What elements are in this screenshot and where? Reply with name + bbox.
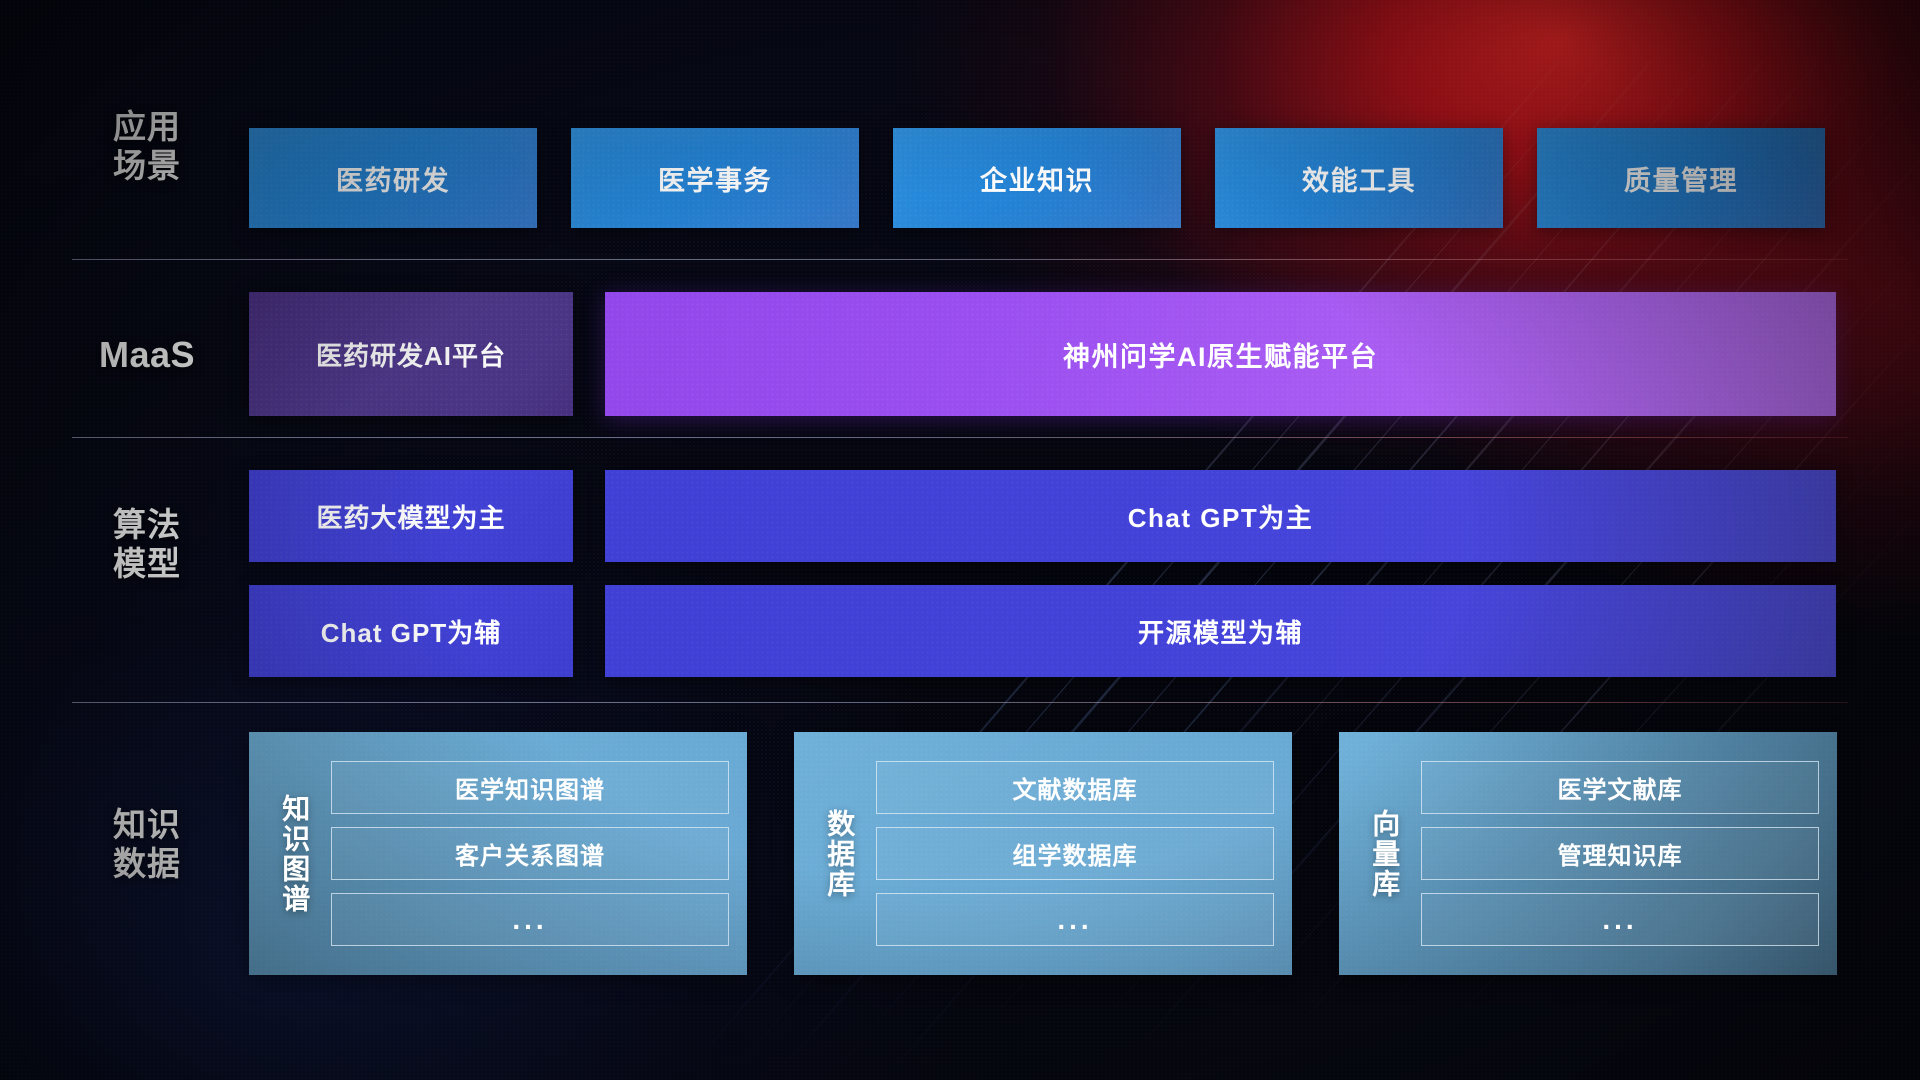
application-scenario-row: 医药研发 医学事务 企业知识 效能工具 质量管理 [249,128,1825,228]
knowledge-group-knowledge-graph: 知识图谱 医学知识图谱 客户关系图谱 ... [249,732,747,975]
algo-box-chatgpt-secondary[interactable]: Chat GPT为辅 [249,585,573,677]
knowledge-group-database: 数据库 文献数据库 组学数据库 ... [794,732,1292,975]
knowledge-item-label: 客户关系图谱 [455,836,605,871]
tier-label-application-line1: 应用 [72,108,222,147]
knowledge-item-label: 医学文献库 [1558,770,1683,805]
tier-label-knowledge-line2: 数据 [72,845,222,884]
tier-label-algorithm-line1: 算法 [72,506,222,545]
knowledge-item-more[interactable]: ... [331,893,729,946]
knowledge-item-label: 管理知识库 [1558,836,1683,871]
tier-label-algorithm-line2: 模型 [72,545,222,584]
algo-box-label: Chat GPT为辅 [321,613,501,650]
algo-box-opensource-model-secondary[interactable]: 开源模型为辅 [605,585,1836,677]
algo-box-label: 开源模型为辅 [1138,613,1303,650]
tier-label-knowledge: 知识 数据 [72,806,222,884]
app-box-enterprise-knowledge[interactable]: 企业知识 [893,128,1181,228]
algo-box-label: 医药大模型为主 [316,498,505,535]
divider-algorithm-knowledge [72,702,1848,703]
maas-row: 医药研发AI平台 神州问学AI原生赋能平台 [249,292,1836,416]
app-box-quality-management[interactable]: 质量管理 [1537,128,1825,228]
knowledge-item-more[interactable]: ... [1421,893,1819,946]
app-box-label: 效能工具 [1302,159,1416,198]
algorithm-row-secondary: Chat GPT为辅 开源模型为辅 [249,585,1836,677]
maas-box-label: 医药研发AI平台 [316,336,506,373]
app-box-drug-rd[interactable]: 医药研发 [249,128,537,228]
knowledge-item-label: 文献数据库 [1013,770,1138,805]
app-box-label: 医药研发 [336,159,450,198]
knowledge-item-medical-literature-store[interactable]: 医学文献库 [1421,761,1819,814]
knowledge-group-items: 医学知识图谱 客户关系图谱 ... [331,746,729,961]
knowledge-item-more[interactable]: ... [876,893,1274,946]
knowledge-item-label: 组学数据库 [1013,836,1138,871]
algorithm-row-primary: 医药大模型为主 Chat GPT为主 [249,470,1836,562]
maas-box-drug-rd-ai-platform[interactable]: 医药研发AI平台 [249,292,573,416]
knowledge-item-literature-database[interactable]: 文献数据库 [876,761,1274,814]
architecture-layers: 应用 场景 医药研发 医学事务 企业知识 效能工具 质量管理 MaaS [0,0,1920,1080]
tier-label-maas-text: MaaS [72,334,222,376]
divider-application-maas [72,259,1848,260]
app-box-label: 质量管理 [1624,159,1738,198]
tier-label-maas: MaaS [72,334,222,376]
app-box-label: 医学事务 [658,159,772,198]
knowledge-group-vertical-label: 数据库 [802,746,876,961]
divider-maas-algorithm [72,437,1848,438]
maas-box-shenzhou-wenxue-platform[interactable]: 神州问学AI原生赋能平台 [605,292,1836,416]
knowledge-data-row: 知识图谱 医学知识图谱 客户关系图谱 ... 数据库 [249,732,1837,975]
algo-box-pharma-large-model-primary[interactable]: 医药大模型为主 [249,470,573,562]
knowledge-item-medical-knowledge-graph[interactable]: 医学知识图谱 [331,761,729,814]
diagram-canvas: 应用 场景 医药研发 医学事务 企业知识 效能工具 质量管理 MaaS [0,0,1920,1080]
app-box-label: 企业知识 [980,159,1094,198]
tier-label-algorithm: 算法 模型 [72,506,222,584]
knowledge-item-customer-relation-graph[interactable]: 客户关系图谱 [331,827,729,880]
knowledge-group-vector-store: 向量库 医学文献库 管理知识库 ... [1339,732,1837,975]
app-box-efficiency-tools[interactable]: 效能工具 [1215,128,1503,228]
knowledge-item-management-knowledge-store[interactable]: 管理知识库 [1421,827,1819,880]
knowledge-item-omics-database[interactable]: 组学数据库 [876,827,1274,880]
algo-box-chatgpt-primary[interactable]: Chat GPT为主 [605,470,1836,562]
tier-label-application: 应用 场景 [72,108,222,186]
knowledge-group-items: 医学文献库 管理知识库 ... [1421,746,1819,961]
knowledge-item-label: ... [512,904,547,936]
app-box-medical-affairs[interactable]: 医学事务 [571,128,859,228]
knowledge-item-label: ... [1057,904,1092,936]
maas-box-label: 神州问学AI原生赋能平台 [1063,335,1378,374]
knowledge-group-vertical-label: 知识图谱 [257,746,331,961]
tier-label-knowledge-line1: 知识 [72,806,222,845]
tier-label-application-line2: 场景 [72,147,222,186]
knowledge-group-vertical-label: 向量库 [1347,746,1421,961]
knowledge-group-items: 文献数据库 组学数据库 ... [876,746,1274,961]
knowledge-item-label: 医学知识图谱 [455,770,605,805]
algo-box-label: Chat GPT为主 [1128,498,1313,535]
knowledge-item-label: ... [1602,904,1637,936]
